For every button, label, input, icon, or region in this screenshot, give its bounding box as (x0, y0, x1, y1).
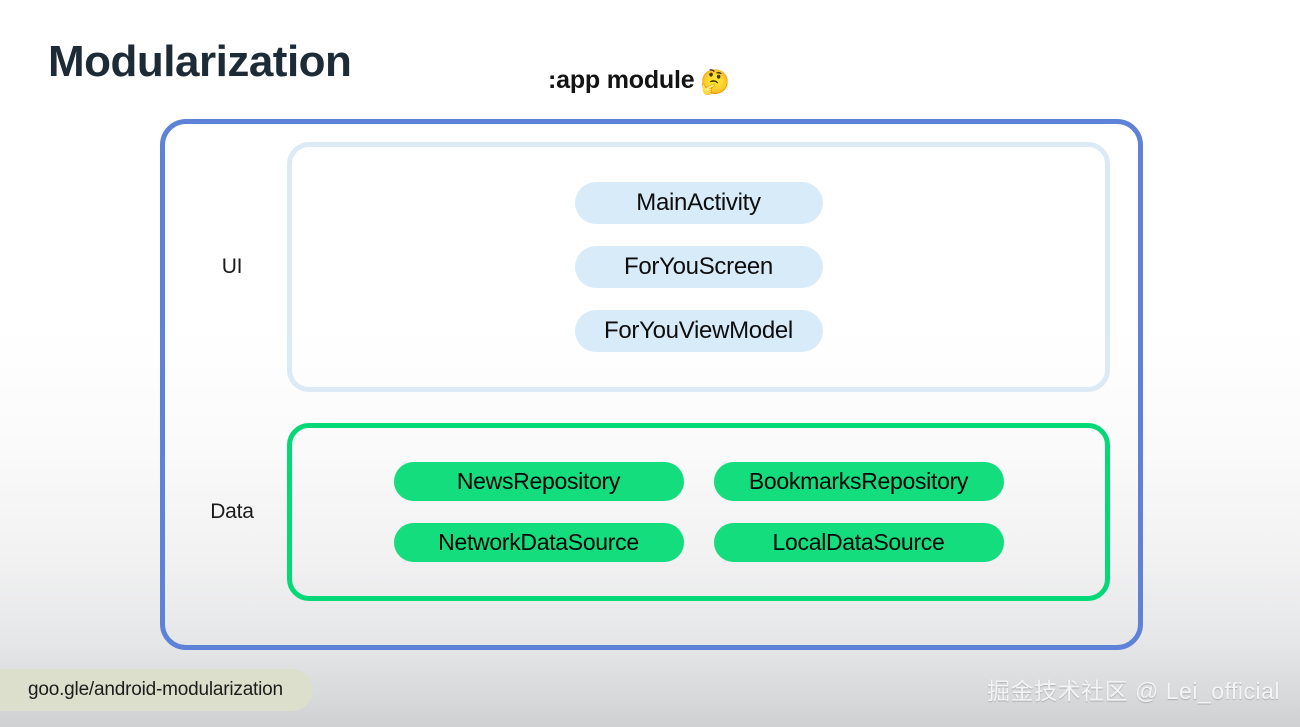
ui-layer-label: UI (177, 255, 287, 279)
chip-network-data-source[interactable]: NetworkDataSource (394, 523, 684, 562)
data-layer-box: NewsRepository BookmarksRepository Netwo… (287, 423, 1110, 601)
chip-for-you-screen[interactable]: ForYouScreen (575, 246, 823, 288)
thinking-face-icon: 🤔 (700, 69, 730, 96)
chip-news-repository[interactable]: NewsRepository (394, 462, 684, 501)
data-layer-row: Data NewsRepository BookmarksRepository … (165, 423, 1138, 601)
data-chip-row-1: NewsRepository BookmarksRepository (316, 462, 1081, 501)
chip-main-activity[interactable]: MainActivity (575, 182, 823, 224)
app-module-container: UI MainActivity ForYouScreen ForYouViewM… (160, 119, 1143, 650)
ui-layer-box: MainActivity ForYouScreen ForYouViewMode… (287, 142, 1110, 392)
module-caption-text: :app module (548, 66, 694, 94)
ui-layer-row: UI MainActivity ForYouScreen ForYouViewM… (165, 142, 1138, 392)
chip-for-you-view-model[interactable]: ForYouViewModel (575, 310, 823, 352)
chip-local-data-source[interactable]: LocalDataSource (714, 523, 1004, 562)
module-caption: :app module🤔 (548, 66, 730, 97)
reference-url-pill[interactable]: goo.gle/android-modularization (0, 669, 313, 711)
data-layer-label: Data (177, 500, 287, 524)
data-chip-row-2: NetworkDataSource LocalDataSource (316, 523, 1081, 562)
page-title: Modularization (48, 38, 351, 86)
watermark: 掘金技术社区 @ Lei_official (987, 672, 1280, 706)
chip-bookmarks-repository[interactable]: BookmarksRepository (714, 462, 1004, 501)
